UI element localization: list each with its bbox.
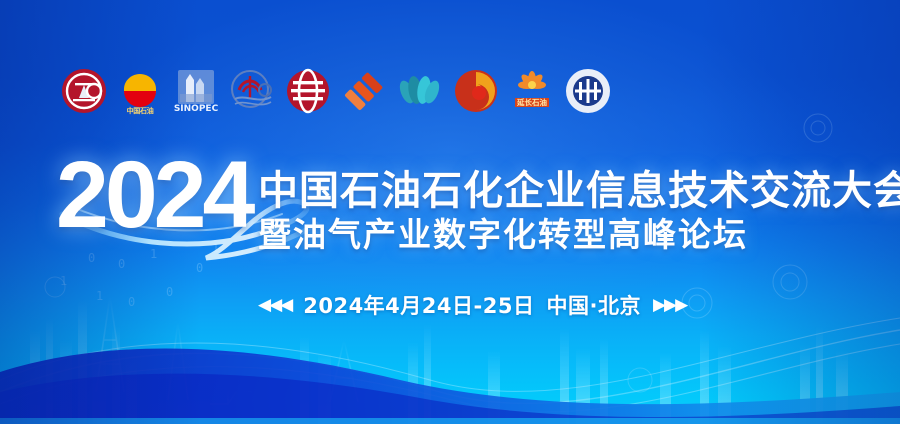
petrochina-logo: 中国石油 [116,67,164,115]
binary-digits: 0 0 1 1 0 0 1 0 1 [60,241,219,309]
sinopec-logo: SINOPEC [172,67,220,115]
sponsor-logo-strip: 中国石油 SINOPEC [60,66,612,116]
cnpc-logo [228,67,276,115]
date-location-row: ◀◀◀ 2024年4月24日-25日 中国·北京 ▶▶▶ [258,290,686,320]
zhenhua-oil-logo [340,67,388,115]
petrochina-caption: 中国石油 [116,106,164,116]
event-location: 中国·北京 [546,290,640,320]
svg-text:0: 0 [88,251,95,265]
svg-text:0: 0 [196,261,203,275]
year-2024: 2024 [56,148,251,243]
svg-text:1: 1 [150,247,157,261]
cnooc-logo [60,67,108,115]
svg-text:1: 1 [60,274,67,288]
yanchang-petroleum-logo: 延长石油 [508,67,556,115]
svg-text:0: 0 [118,257,125,271]
event-date: 2024年4月24日-25日 [303,290,534,320]
shaanxi-yanchang-logo [452,67,500,115]
bottom-edge-highlight [0,418,900,424]
sinochem-logo [284,67,332,115]
svg-text:SINOPEC: SINOPEC [174,104,218,114]
svg-text:1: 1 [96,289,103,303]
right-arrows-icon: ▶▶▶ [653,295,686,315]
conference-subtitle: 暨油气产业数字化转型高峰论坛 [258,208,748,256]
svg-text:0: 0 [128,295,135,309]
svg-text:0: 0 [166,285,173,299]
bottom-wave [0,348,900,424]
wave-ribbons [0,318,900,412]
left-arrows-icon: ◀◀◀ [258,295,291,315]
svg-text:延长石油: 延长石油 [516,97,547,107]
conference-banner: 0 0 1 1 0 0 1 0 1 [0,0,900,424]
cnooc-petal-logo [396,67,444,115]
china-oil-institute-logo [564,67,612,115]
